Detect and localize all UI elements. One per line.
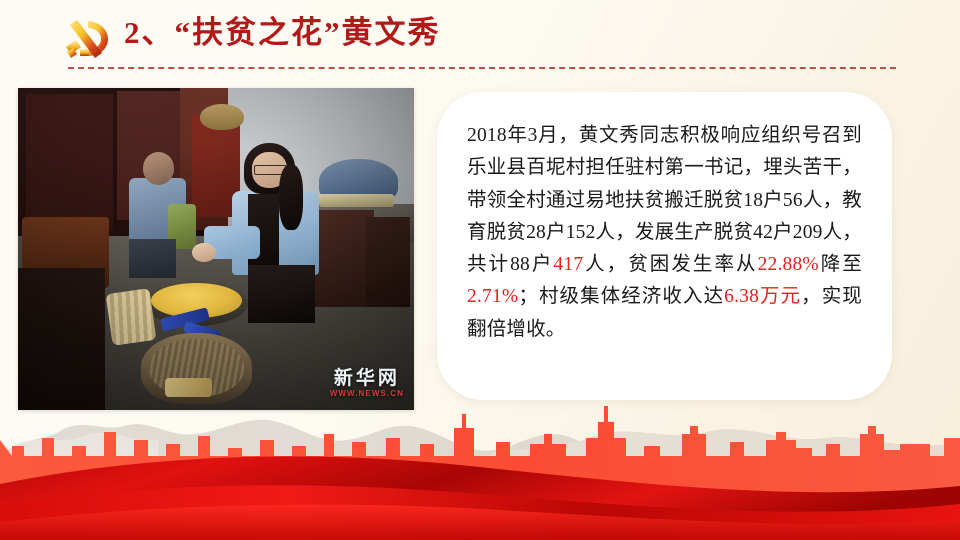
- highlight-figure: 22.88%: [758, 254, 819, 275]
- content-photo: 新华网 WWW.NEWS.CN: [18, 88, 414, 410]
- body-paragraph: 2018年3月，黄文秀同志积极响应组织号召到乐业县百坭村担任驻村第一书记，埋头苦…: [467, 120, 862, 346]
- cpc-hammer-sickle-emblem-icon: [58, 16, 114, 62]
- bottom-decoration: [0, 398, 960, 540]
- photo-vignette: [18, 88, 414, 410]
- paragraph-run: ；村级集体经济收入达: [518, 286, 724, 307]
- watermark-url: WWW.NEWS.CN: [330, 390, 404, 398]
- highlight-figure: 2.71%: [467, 286, 518, 307]
- highlight-figure: 6.38万元: [724, 286, 801, 307]
- slide-header: 2、“扶贫之花”黄文秀: [0, 0, 960, 78]
- paragraph-run: 2018年3月，黄文秀同志积极响应组织号召到乐业县百坭村担任驻村第一书记，埋头苦…: [467, 125, 862, 275]
- page-title: 2、“扶贫之花”黄文秀: [124, 12, 441, 54]
- slide-canvas: 2、“扶贫之花”黄文秀: [0, 0, 960, 540]
- paragraph-run: 降至: [819, 254, 862, 275]
- text-card: 2018年3月，黄文秀同志积极响应组织号召到乐业县百坭村担任驻村第一书记，埋头苦…: [437, 92, 892, 400]
- title-divider: [68, 67, 896, 69]
- watermark-text-cn: 新华网: [330, 369, 404, 388]
- highlight-figure: 417: [553, 254, 583, 275]
- bottom-decoration-art: [0, 398, 960, 540]
- paragraph-run: 人，贫困发生率从: [583, 254, 757, 275]
- photo-watermark: 新华网 WWW.NEWS.CN: [330, 369, 404, 398]
